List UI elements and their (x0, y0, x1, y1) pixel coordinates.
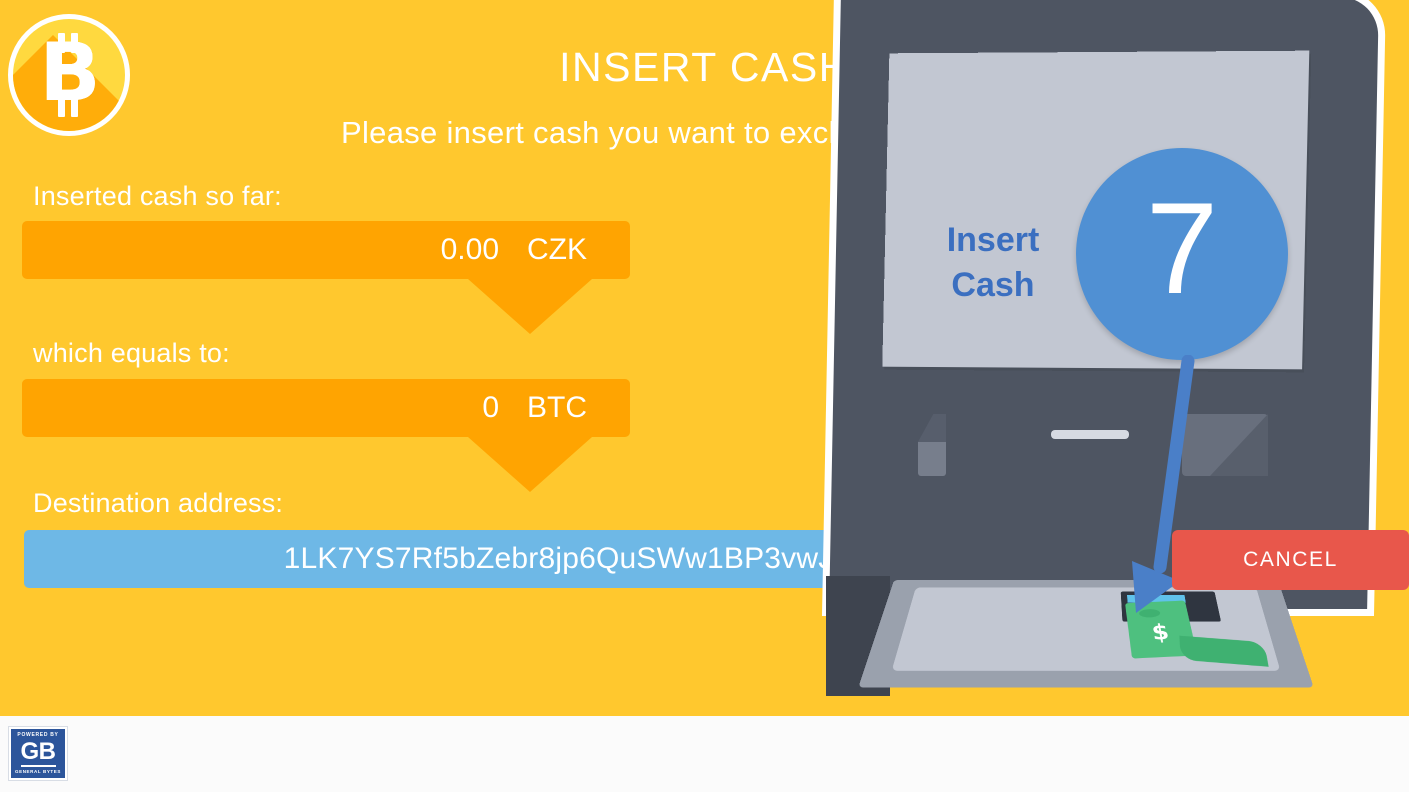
callout-label: Insert Cash (918, 218, 1068, 308)
inserted-cash-label: Inserted cash so far: (33, 181, 282, 212)
atm-illustration: $ (808, 0, 1388, 716)
flow-arrow-1-icon (468, 279, 592, 334)
cash-acceptor-tray: $ (858, 580, 1313, 687)
atm-panel-mark-right-icon (1182, 414, 1268, 476)
flow-arrow-2-icon (468, 437, 592, 492)
cancel-button[interactable]: CANCEL (1172, 530, 1409, 590)
destination-address-label: Destination address: (33, 488, 283, 519)
equals-to-value: 0 (482, 391, 499, 425)
atm-panel-bar-icon (1051, 430, 1129, 439)
callout-label-line1: Insert (918, 218, 1068, 263)
step-callout-badge: 7 (1076, 148, 1288, 360)
step-number: 7 (1146, 183, 1218, 313)
gb-initials: GB (21, 740, 56, 767)
inserted-cash-unit: CZK (499, 233, 604, 267)
equals-to-field: 0 BTC (22, 379, 630, 437)
kiosk-screen: B INSERT CASH Please insert cash you wan… (0, 0, 1409, 792)
dollar-sign-icon: $ (1150, 620, 1171, 645)
kiosk-panel: B INSERT CASH Please insert cash you wan… (0, 0, 1409, 716)
gb-company-name: GENERAL BYTES (15, 770, 61, 775)
gb-powered-by-text: POWERED BY (17, 733, 58, 738)
equals-to-unit: BTC (499, 391, 604, 425)
inserted-cash-field: 0.00 CZK (22, 221, 630, 279)
equals-to-label: which equals to: (33, 338, 230, 369)
cancel-button-label: CANCEL (1243, 548, 1338, 572)
footer-bar: POWERED BY GB GENERAL BYTES exchange rat… (0, 716, 1409, 792)
callout-label-line2: Cash (918, 263, 1068, 308)
general-bytes-logo: POWERED BY GB GENERAL BYTES (9, 727, 67, 780)
inserted-cash-value: 0.00 (441, 233, 499, 267)
destination-address-value: 1LK7YS7Rf5bZebr8jp6QuSWw1BP3vwJ7rw (284, 542, 883, 576)
